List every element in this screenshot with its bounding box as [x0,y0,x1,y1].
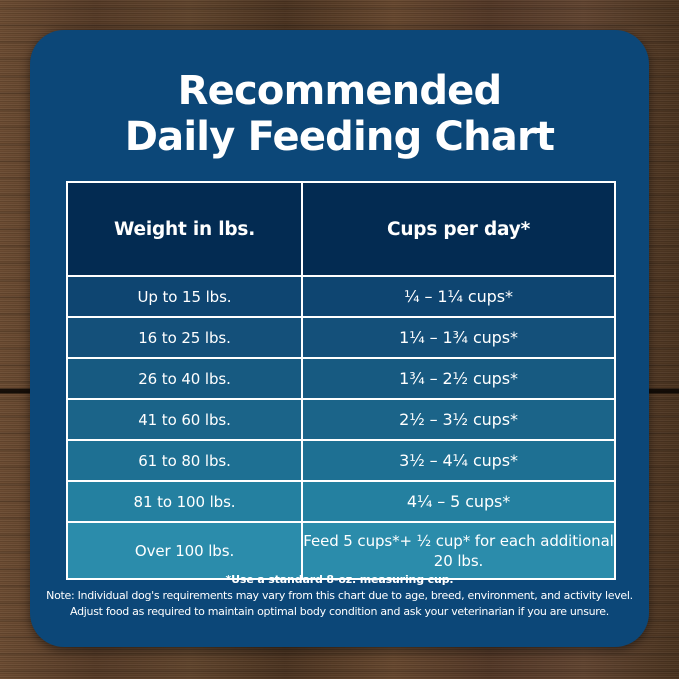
feeding-chart-card: Recommended Daily Feeding Chart Weight i… [30,30,649,647]
cell-cups: 3½ – 4¼ cups* [302,440,615,481]
table-header-row: Weight in lbs. Cups per day* [67,182,615,276]
table-header: Weight in lbs. Cups per day* [67,182,615,276]
footnotes: *Use a standard 8-oz. measuring cup. Not… [42,572,637,620]
footnote-note-line-2: Adjust food as required to maintain opti… [42,604,637,620]
footnote-measuring-cup: *Use a standard 8-oz. measuring cup. [42,572,637,588]
cell-weight: 61 to 80 lbs. [67,440,302,481]
table-body: Up to 15 lbs. ¼ – 1¼ cups* 16 to 25 lbs.… [67,276,615,579]
table-row: 26 to 40 lbs. 1¾ – 2½ cups* [67,358,615,399]
cell-weight: 41 to 60 lbs. [67,399,302,440]
cell-weight: Over 100 lbs. [67,522,302,579]
table-row: Up to 15 lbs. ¼ – 1¼ cups* [67,276,615,317]
table-row: 16 to 25 lbs. 1¼ – 1¾ cups* [67,317,615,358]
cell-cups: 1¼ – 1¾ cups* [302,317,615,358]
title-line-2: Daily Feeding Chart [30,114,649,160]
cell-weight: 16 to 25 lbs. [67,317,302,358]
cell-cups: 4¼ – 5 cups* [302,481,615,522]
table-row: 41 to 60 lbs. 2½ – 3½ cups* [67,399,615,440]
column-header-weight: Weight in lbs. [67,182,302,276]
feeding-chart-table: Weight in lbs. Cups per day* Up to 15 lb… [66,181,616,580]
cell-weight: 26 to 40 lbs. [67,358,302,399]
page-title: Recommended Daily Feeding Chart [30,68,649,160]
cell-cups: Feed 5 cups*+ ½ cup* for each additional… [302,522,615,579]
cell-weight: Up to 15 lbs. [67,276,302,317]
cell-cups: 2½ – 3½ cups* [302,399,615,440]
column-header-cups: Cups per day* [302,182,615,276]
table-row: 61 to 80 lbs. 3½ – 4¼ cups* [67,440,615,481]
table-row: Over 100 lbs. Feed 5 cups*+ ½ cup* for e… [67,522,615,579]
footnote-note-line-1: Note: Individual dog's requirements may … [42,588,637,604]
cell-cups: ¼ – 1¼ cups* [302,276,615,317]
cell-weight: 81 to 100 lbs. [67,481,302,522]
title-line-1: Recommended [30,68,649,114]
cell-cups: 1¾ – 2½ cups* [302,358,615,399]
table-row: 81 to 100 lbs. 4¼ – 5 cups* [67,481,615,522]
